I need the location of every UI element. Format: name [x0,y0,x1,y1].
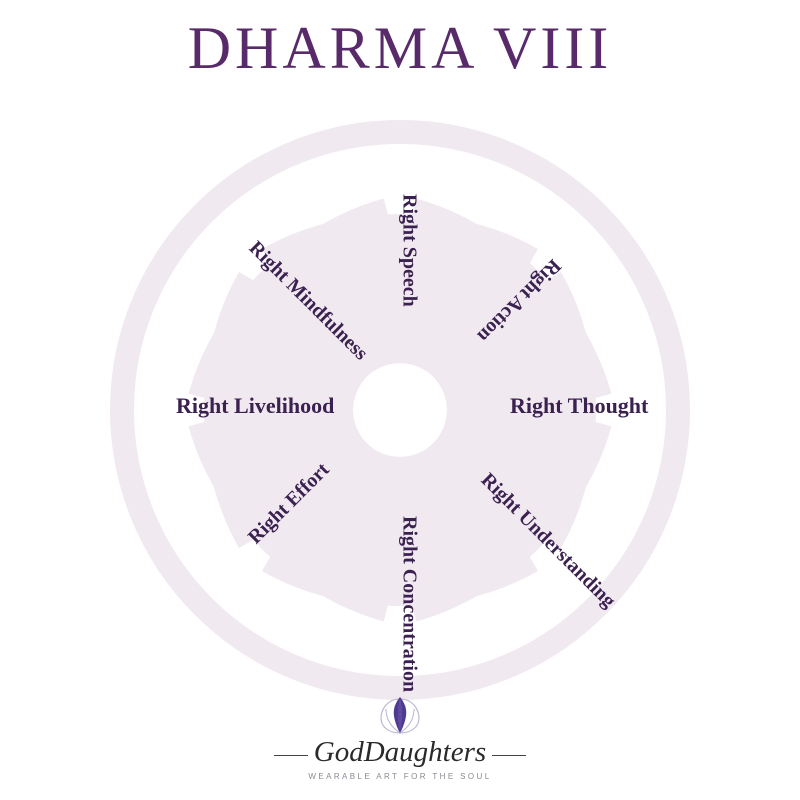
dharma-wheel-graphic [110,120,690,700]
brand-tagline: WEARABLE ART FOR THE SOUL [0,772,800,781]
dharma-wheel: Right Speech Right Action Right Thought … [110,120,690,700]
brand-name: GodDaughters [314,737,486,767]
tulip-flower-icon [377,694,423,736]
poster-canvas: DHARMA VIII [0,0,800,800]
wheel-segments [164,174,636,646]
page-title: DHARMA VIII [0,18,800,78]
brand-logo: GodDaughters WEARABLE ART FOR THE SOUL [0,694,800,781]
